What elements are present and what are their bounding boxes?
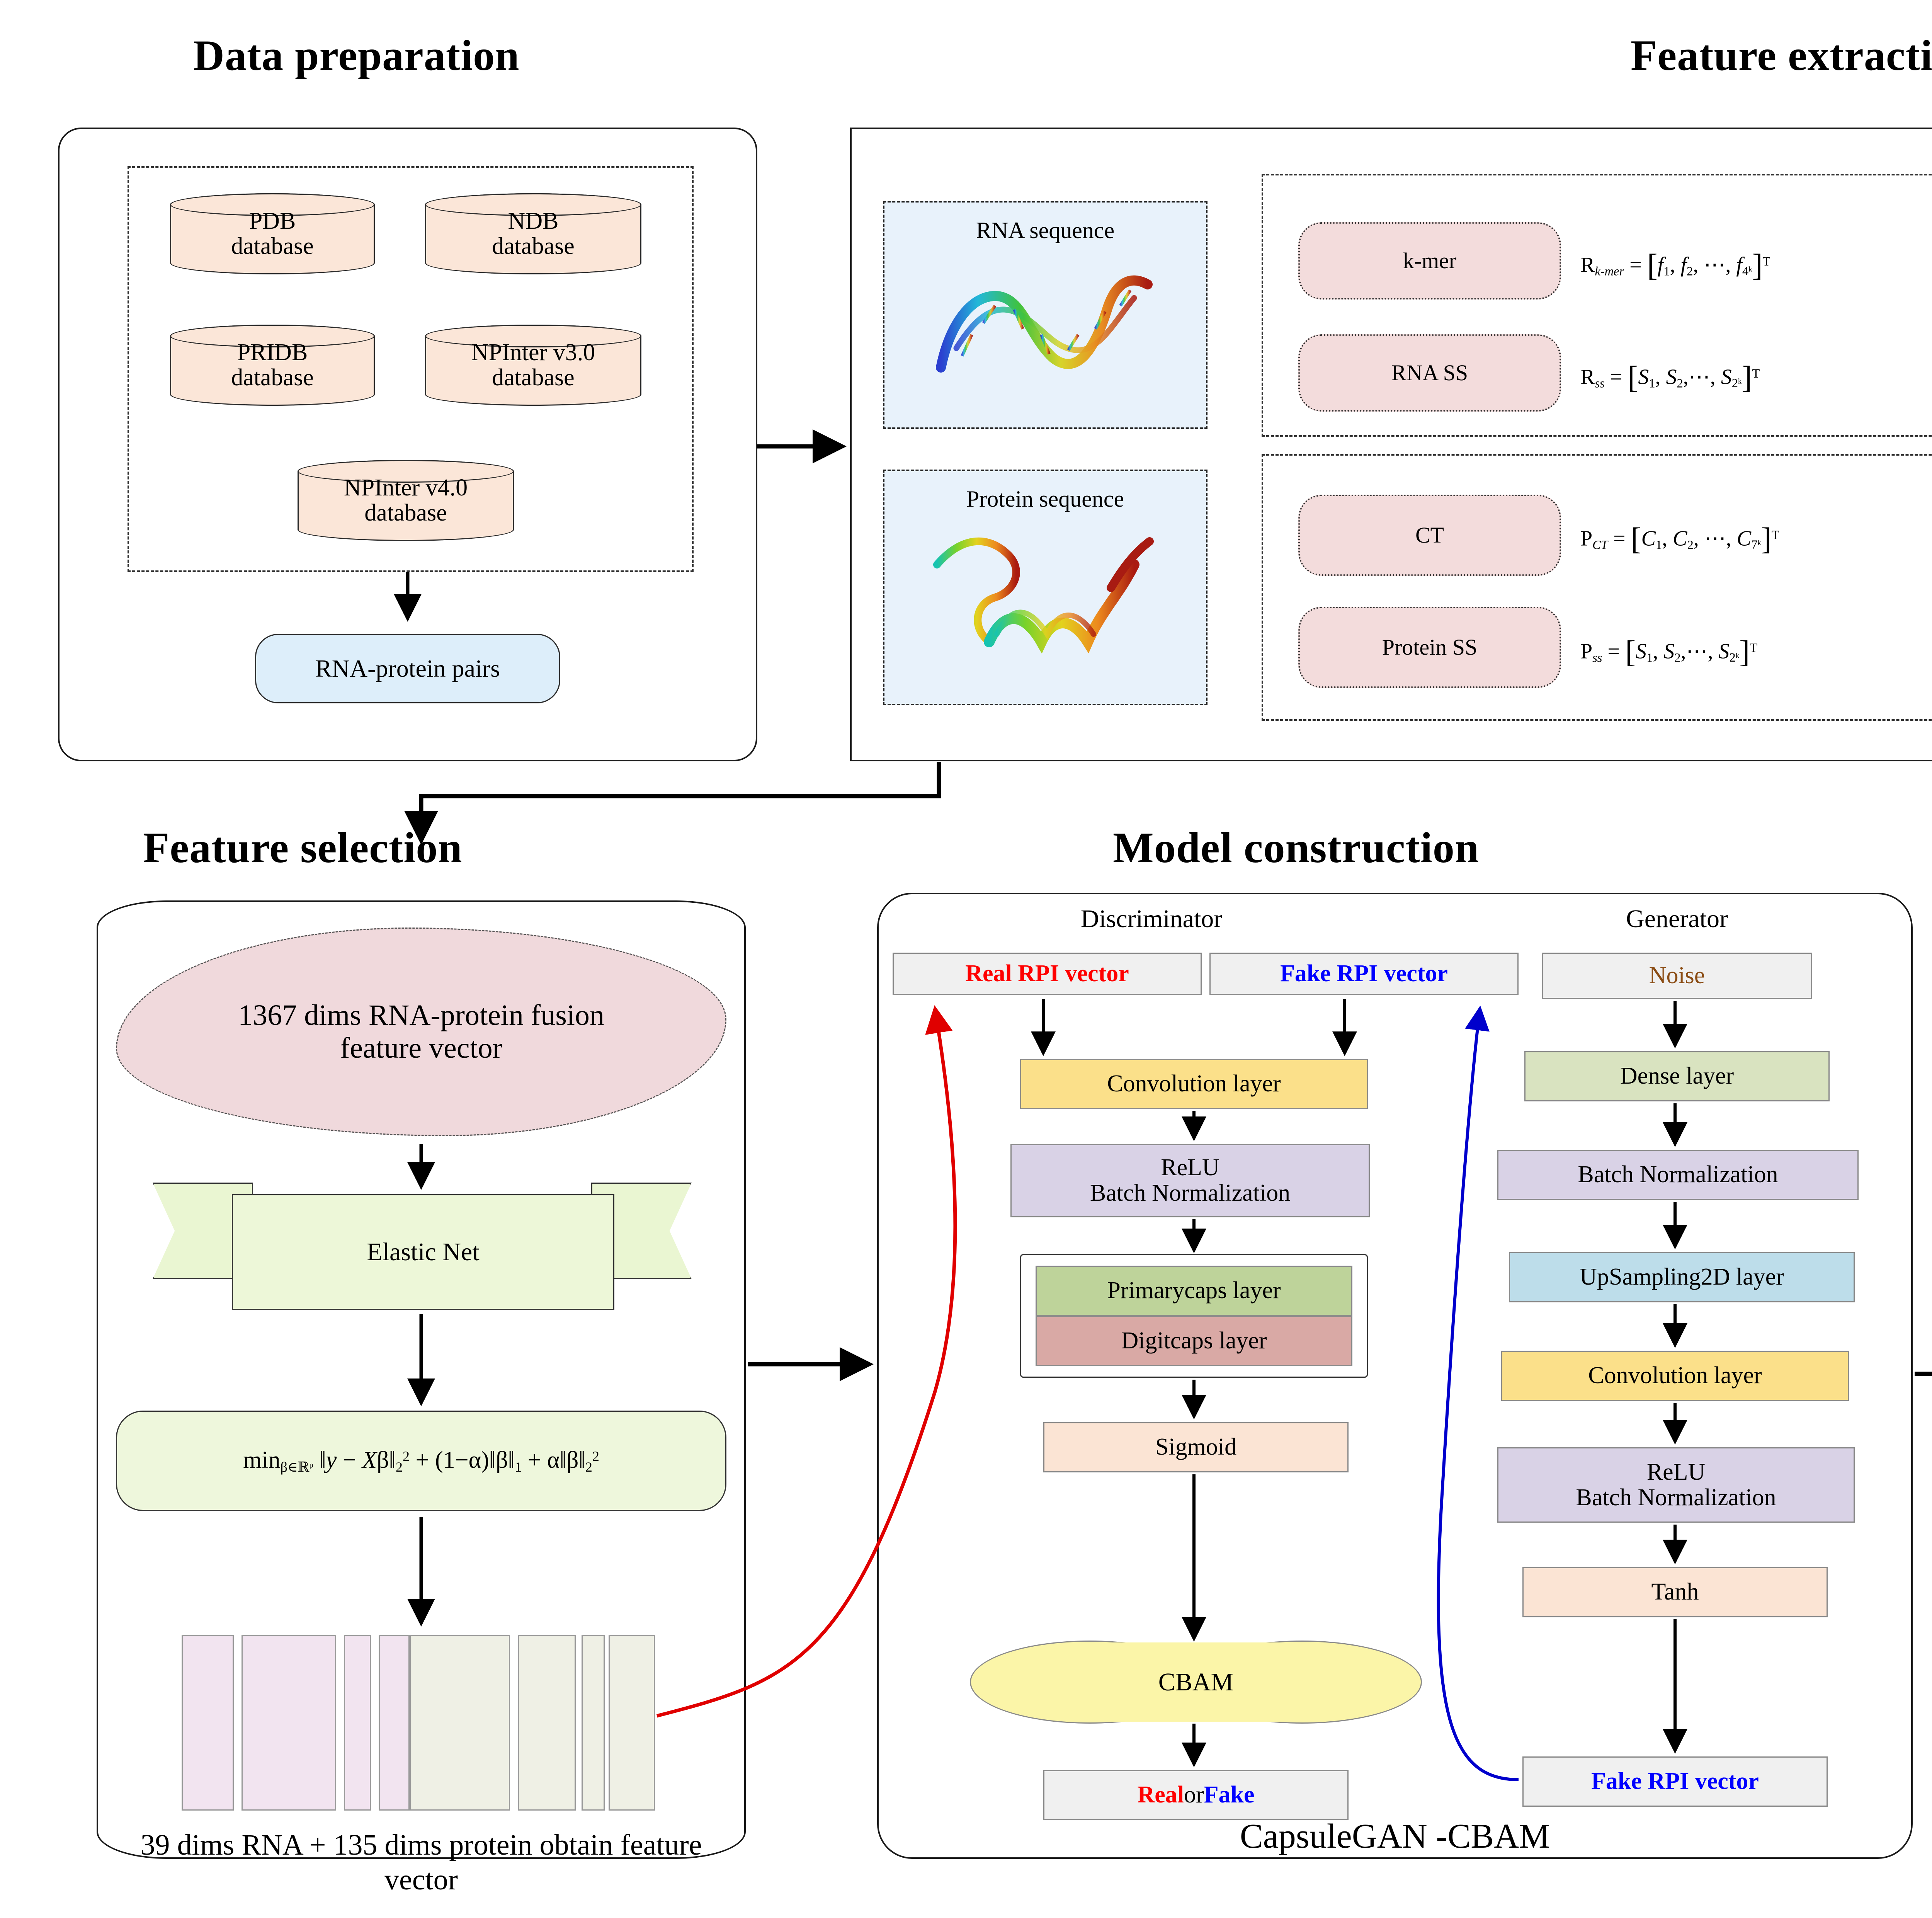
feature-vector-segment	[582, 1635, 605, 1811]
elastic-net-ribbon[interactable]: Elastic Net	[232, 1194, 614, 1310]
generator-tanh[interactable]: Tanh	[1522, 1567, 1828, 1617]
generator-batch-normalization[interactable]: Batch Normalization	[1497, 1150, 1859, 1200]
generator-relu-bn-label: ReLU Batch Normalization	[1576, 1460, 1776, 1510]
generator-tanh-label: Tanh	[1651, 1579, 1699, 1605]
database-pdb[interactable]: PDB database	[170, 193, 375, 274]
method-ct[interactable]: CT	[1298, 495, 1561, 576]
discriminator-title: Discriminator	[939, 904, 1364, 934]
method-k-mer-label: k-mer	[1403, 248, 1457, 273]
feature-vector-segment	[344, 1635, 371, 1811]
cbam-label-wrap: CBAM	[970, 1641, 1422, 1724]
database-npinter-v4-label: NPInter v4.0 database	[341, 475, 471, 526]
method-ct-label: CT	[1415, 523, 1444, 548]
generator-dense-layer[interactable]: Dense layer	[1524, 1051, 1830, 1101]
database-pdb-label: PDB database	[228, 209, 316, 259]
method-k-mer[interactable]: k-mer	[1298, 222, 1561, 300]
formula-rna-ss: Rss = [S1, S2,⋯, S2k]T	[1580, 359, 1760, 395]
feature-vector-segment	[182, 1635, 234, 1811]
feature-vector-segment	[410, 1635, 510, 1811]
digitcaps-layer-label: Digitcaps layer	[1121, 1328, 1267, 1354]
discriminator-output-or: or	[1184, 1782, 1204, 1808]
rna-structure-icon	[925, 252, 1165, 379]
database-ndb-label: NDB database	[489, 209, 577, 259]
digitcaps-layer[interactable]: Digitcaps layer	[1036, 1316, 1352, 1366]
fusion-feature-cloud-label: 1367 dims RNA-protein fusion feature vec…	[199, 999, 643, 1065]
discriminator-output[interactable]: Real or Fake	[1043, 1770, 1349, 1820]
discriminator-convolution-layer-label: Convolution layer	[1107, 1071, 1281, 1097]
database-npinter-v4[interactable]: NPInter v4.0 database	[298, 460, 514, 541]
method-rna-ss-label: RNA SS	[1391, 361, 1468, 385]
discriminator-relu-bn-layer[interactable]: ReLU Batch Normalization	[1010, 1144, 1370, 1217]
cbam-label: CBAM	[1158, 1668, 1233, 1697]
diagram-canvas: Data preparation Feature extraction Feat…	[0, 0, 1932, 1918]
generator-convolution-layer-label: Convolution layer	[1588, 1363, 1762, 1389]
formula-ct: PCT = [C1, C2, ⋯, C7k]T	[1580, 521, 1779, 557]
section-title-feature-extraction: Feature extraction	[1631, 31, 1932, 81]
rna-sequence-label: RNA sequence	[976, 217, 1114, 244]
primarycaps-layer[interactable]: Primarycaps layer	[1036, 1266, 1352, 1316]
generator-upsampling2d-layer-label: UpSampling2D layer	[1580, 1264, 1784, 1290]
input-fake-rpi-vector-label: Fake RPI vector	[1280, 961, 1448, 987]
method-protein-ss[interactable]: Protein SS	[1298, 607, 1561, 688]
input-real-rpi-vector-label: Real RPI vector	[965, 961, 1129, 987]
generator-fake-rpi-output-label: Fake RPI vector	[1591, 1769, 1759, 1794]
generator-batch-normalization-label: Batch Normalization	[1578, 1162, 1778, 1188]
formula-k-mer: Rk-mer = [f1, f2, ⋯, f4k]T	[1580, 247, 1770, 283]
sigmoid-layer[interactable]: Sigmoid	[1043, 1422, 1349, 1472]
section-title-feature-selection: Feature selection	[143, 823, 463, 873]
input-fake-rpi-vector[interactable]: Fake RPI vector	[1209, 953, 1519, 995]
generator-fake-rpi-output[interactable]: Fake RPI vector	[1522, 1756, 1828, 1807]
generator-dense-layer-label: Dense layer	[1620, 1064, 1734, 1089]
section-title-data-preparation: Data preparation	[193, 31, 520, 81]
elastic-net-objective: minβ∈ℝp ‖y − Xβ‖22 + (1−α)‖β‖1 + α‖β‖22	[116, 1411, 726, 1511]
discriminator-relu-bn-label: ReLU Batch Normalization	[1090, 1155, 1290, 1206]
feature-vector-segment	[241, 1635, 336, 1811]
feature-vector-segment	[609, 1635, 655, 1811]
formula-protein-ss: Pss = [S1, S2,⋯, S2k]T	[1580, 634, 1757, 670]
generator-title: Generator	[1484, 904, 1870, 934]
database-npinter-v3-label: NPInter v3.0 database	[468, 340, 598, 390]
protein-sequence-box: Protein sequence	[883, 470, 1207, 705]
feature-selection-caption: 39 dims RNA + 135 dims protein obtain fe…	[128, 1828, 715, 1897]
protein-sequence-label: Protein sequence	[966, 486, 1124, 512]
generator-relu-bn-layer[interactable]: ReLU Batch Normalization	[1497, 1447, 1855, 1523]
generator-noise[interactable]: Noise	[1542, 953, 1812, 999]
database-npinter-v3[interactable]: NPInter v3.0 database	[425, 325, 641, 406]
primarycaps-layer-label: Primarycaps layer	[1107, 1278, 1281, 1304]
generator-upsampling2d-layer[interactable]: UpSampling2D layer	[1509, 1252, 1855, 1302]
discriminator-convolution-layer[interactable]: Convolution layer	[1020, 1059, 1368, 1109]
sigmoid-layer-label: Sigmoid	[1155, 1435, 1236, 1460]
generator-noise-label: Noise	[1649, 963, 1705, 989]
protein-structure-icon	[925, 518, 1165, 654]
rna-protein-pairs-node[interactable]: RNA-protein pairs	[255, 634, 560, 703]
section-title-model-construction: Model construction	[1113, 823, 1479, 873]
discriminator-output-fake: Fake	[1204, 1782, 1255, 1808]
database-pridb-label: PRIDB database	[228, 340, 316, 390]
rna-protein-pairs-label: RNA-protein pairs	[315, 654, 500, 683]
database-ndb[interactable]: NDB database	[425, 193, 641, 274]
method-rna-ss[interactable]: RNA SS	[1298, 334, 1561, 412]
input-real-rpi-vector[interactable]: Real RPI vector	[893, 953, 1202, 995]
generator-convolution-layer[interactable]: Convolution layer	[1501, 1351, 1849, 1401]
feature-vector-segment	[518, 1635, 576, 1811]
rna-sequence-box: RNA sequence	[883, 201, 1207, 429]
method-protein-ss-label: Protein SS	[1382, 635, 1478, 660]
elastic-net-objective-formula: minβ∈ℝp ‖y − Xβ‖22 + (1−α)‖β‖1 + α‖β‖22	[243, 1447, 599, 1475]
discriminator-output-real: Real	[1137, 1782, 1184, 1808]
feature-vector-segment	[379, 1635, 410, 1811]
elastic-net-label: Elastic Net	[367, 1237, 479, 1267]
capsulegan-cbam-footer: CapsuleGAN -CBAM	[1105, 1816, 1685, 1856]
database-pridb[interactable]: PRIDB database	[170, 325, 375, 406]
